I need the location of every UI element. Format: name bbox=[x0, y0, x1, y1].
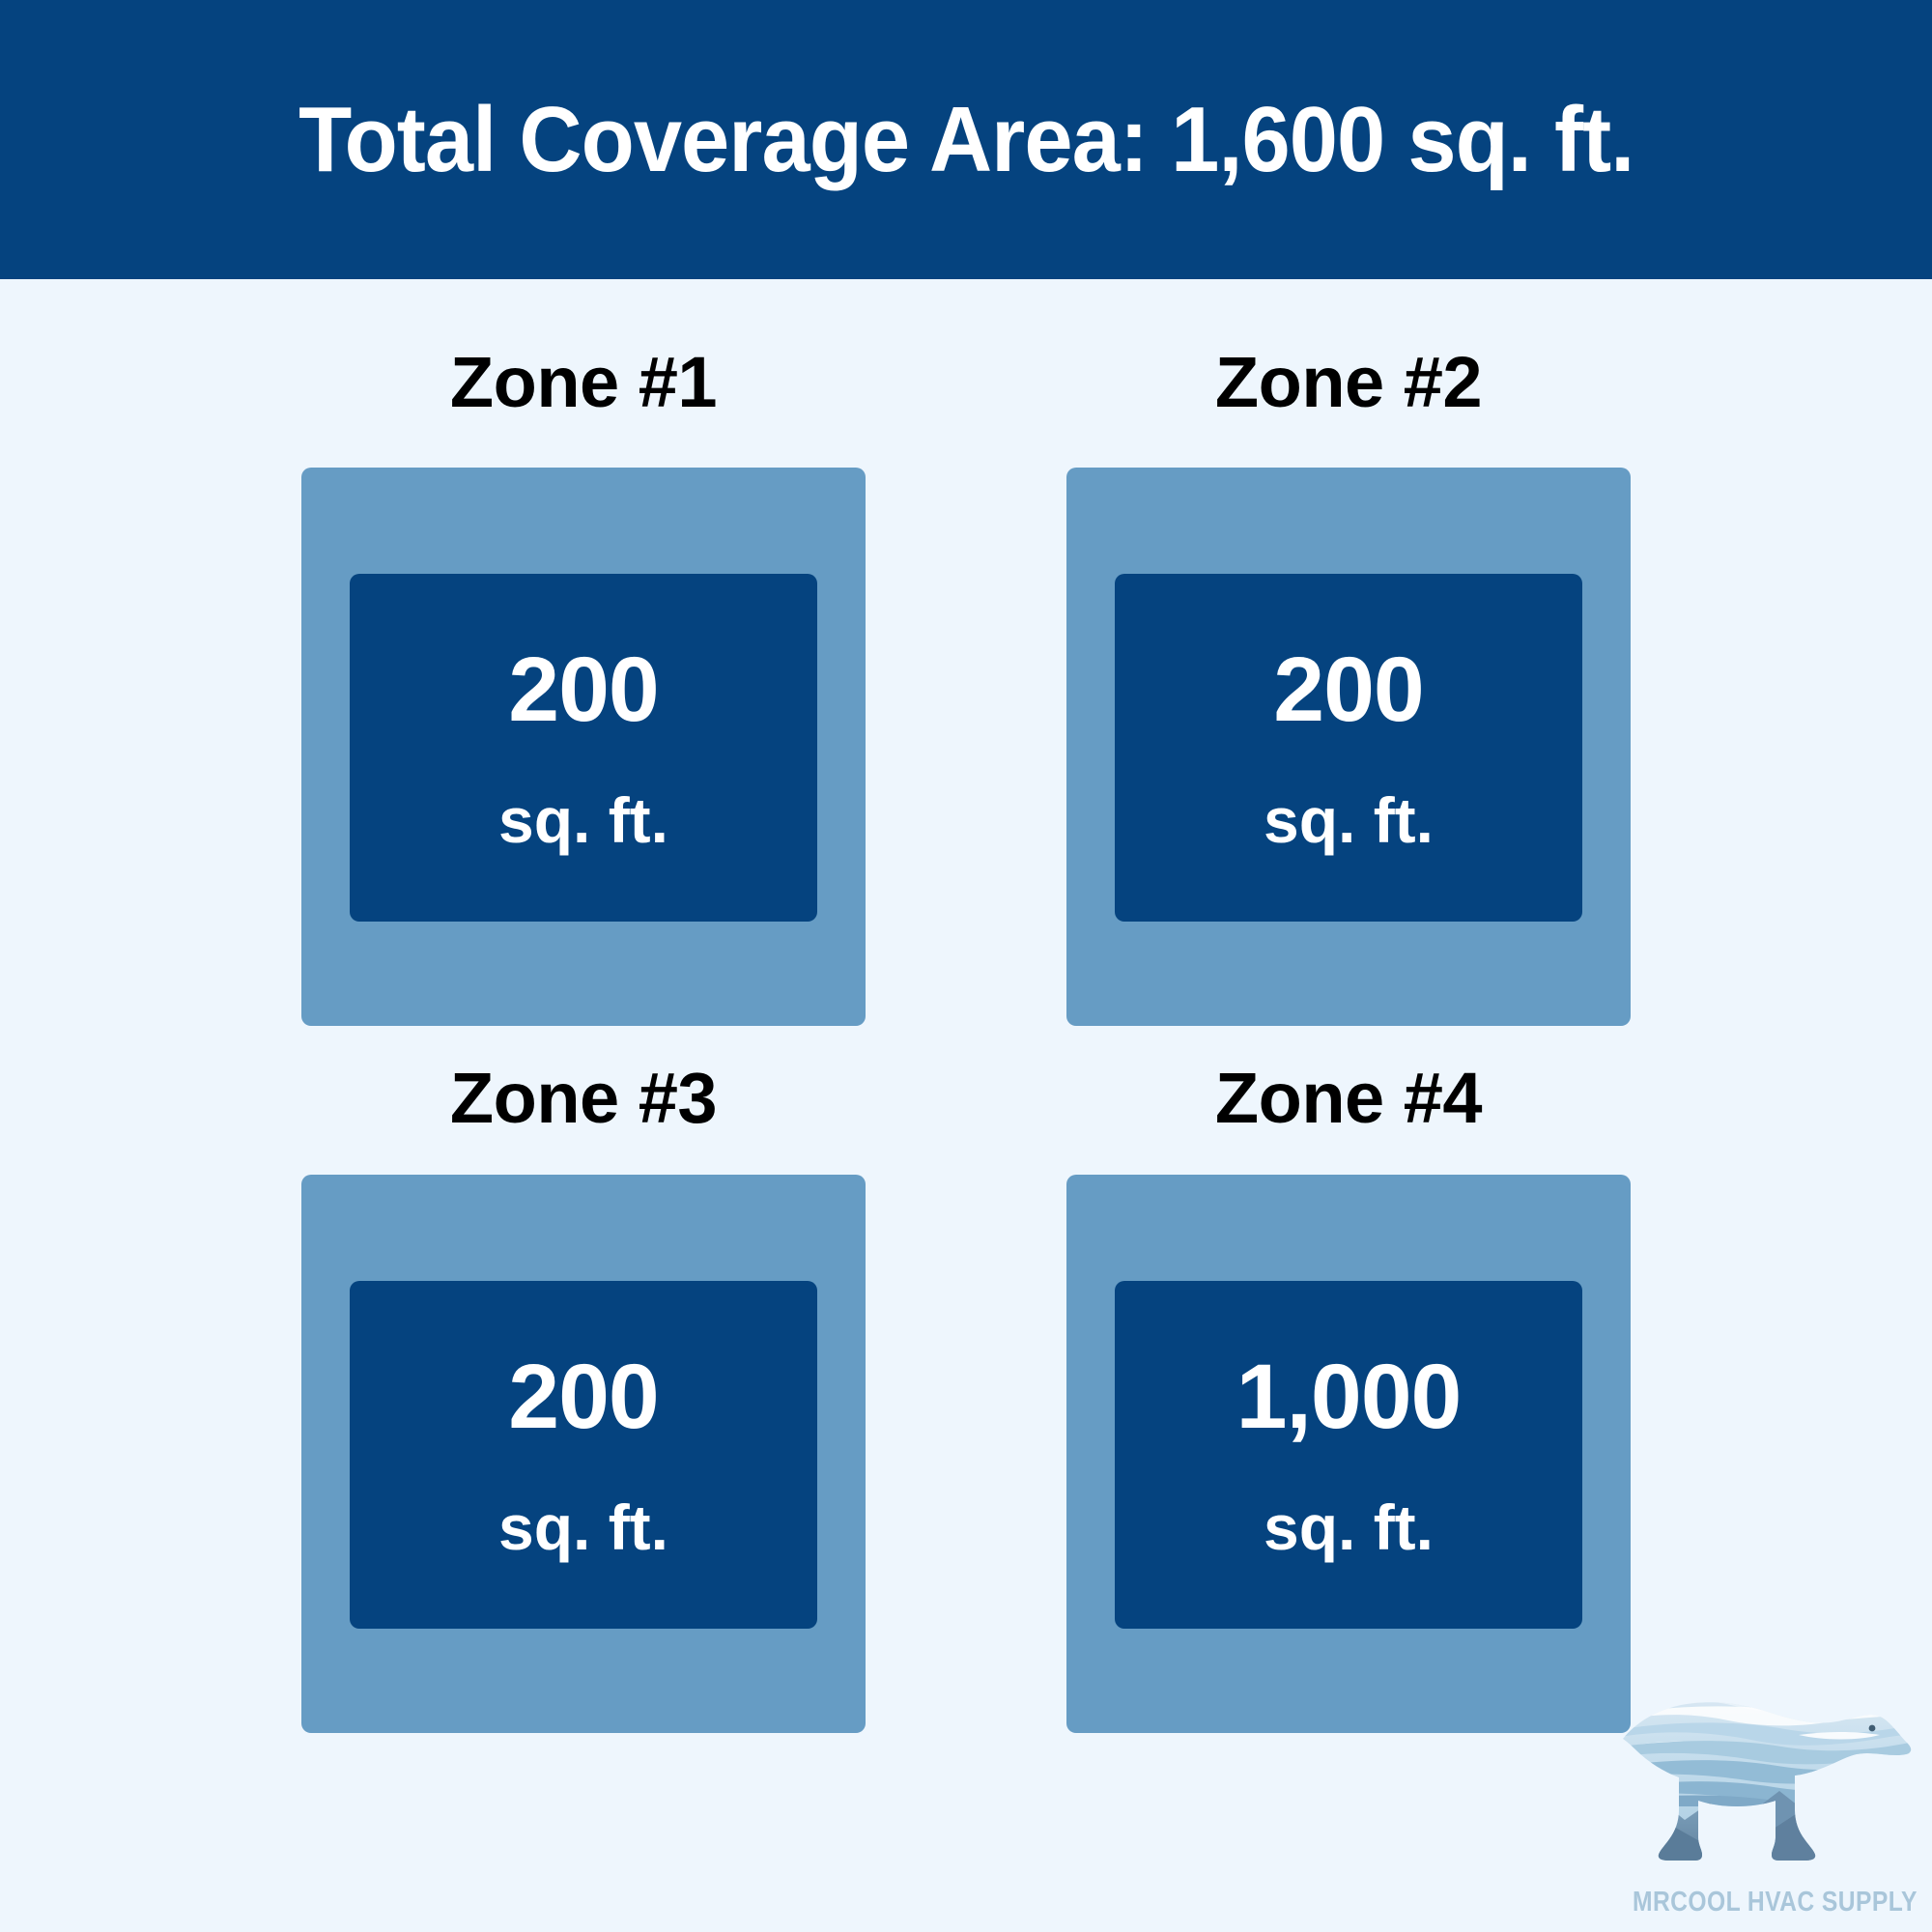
zone-label-4: Zone #4 bbox=[1215, 1063, 1482, 1134]
zone-value-3: 200 bbox=[508, 1351, 659, 1443]
bear-silhouette-fill bbox=[1609, 1685, 1918, 1878]
brand-logo-text: MRCOOL HVAC SUPPLY bbox=[1633, 1887, 1895, 1918]
zone-inner-box-3: 200 sq. ft. bbox=[350, 1281, 817, 1629]
zone-cell-3: Zone #3 200 sq. ft. bbox=[301, 1026, 866, 1733]
zone-value-2: 200 bbox=[1273, 644, 1424, 736]
zone-label-1: Zone #1 bbox=[450, 347, 717, 418]
zone-inner-box-4: 1,000 sq. ft. bbox=[1115, 1281, 1582, 1629]
polar-bear-icon bbox=[1609, 1685, 1918, 1878]
zone-value-4: 1,000 bbox=[1236, 1351, 1462, 1443]
zone-value-1: 200 bbox=[508, 644, 659, 736]
zone-card-1[interactable]: 200 sq. ft. bbox=[301, 468, 866, 1026]
zone-row-top: Zone #1 200 sq. ft. Zone #2 200 sq. ft. bbox=[301, 279, 1631, 1026]
zone-inner-box-1: 200 sq. ft. bbox=[350, 574, 817, 922]
zone-unit-4: sq. ft. bbox=[1264, 1495, 1434, 1559]
zone-unit-2: sq. ft. bbox=[1264, 788, 1434, 852]
zone-card-2[interactable]: 200 sq. ft. bbox=[1066, 468, 1631, 1026]
zone-cell-1: Zone #1 200 sq. ft. bbox=[301, 279, 866, 1026]
zone-cell-4: Zone #4 1,000 sq. ft. bbox=[1066, 1026, 1631, 1733]
zone-unit-1: sq. ft. bbox=[498, 788, 668, 852]
zone-unit-3: sq. ft. bbox=[498, 1495, 668, 1559]
zone-label-2: Zone #2 bbox=[1215, 347, 1482, 418]
zone-inner-box-2: 200 sq. ft. bbox=[1115, 574, 1582, 922]
zone-cell-2: Zone #2 200 sq. ft. bbox=[1066, 279, 1631, 1026]
header-bar: Total Coverage Area: 1,600 sq. ft. bbox=[0, 0, 1932, 279]
brand-logo: MRCOOL HVAC SUPPLY bbox=[1609, 1685, 1918, 1926]
zone-row-bottom: Zone #3 200 sq. ft. Zone #4 1,000 sq. ft… bbox=[301, 1026, 1631, 1733]
zones-grid: Zone #1 200 sq. ft. Zone #2 200 sq. ft. … bbox=[301, 279, 1631, 1733]
zone-label-3: Zone #3 bbox=[450, 1063, 717, 1134]
zone-card-4[interactable]: 1,000 sq. ft. bbox=[1066, 1175, 1631, 1733]
bear-eye-icon bbox=[1869, 1725, 1876, 1732]
zone-card-3[interactable]: 200 sq. ft. bbox=[301, 1175, 866, 1733]
page-title: Total Coverage Area: 1,600 sq. ft. bbox=[298, 94, 1634, 186]
